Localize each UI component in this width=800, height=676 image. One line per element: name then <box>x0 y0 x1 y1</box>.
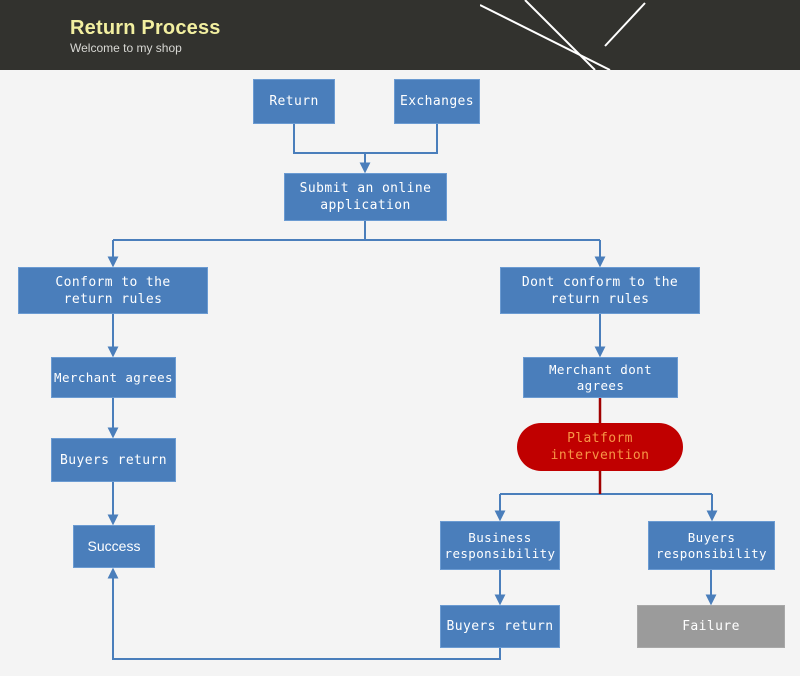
node-submit-online-application[interactable]: Submit an online application <box>284 173 447 221</box>
node-merchant-dont-agrees[interactable]: Merchant dont agrees <box>523 357 678 398</box>
node-business-responsibility[interactable]: Business responsibility <box>440 521 560 570</box>
node-success[interactable]: Success <box>73 525 155 568</box>
page-header: Return Process Welcome to my shop <box>0 0 800 70</box>
node-conform-to-return-rules[interactable]: Conform to the return rules <box>18 267 208 314</box>
node-buyers-return-left[interactable]: Buyers return <box>51 438 176 482</box>
edge-return-exchanges-merge <box>294 124 437 153</box>
node-merchant-agrees[interactable]: Merchant agrees <box>51 357 176 398</box>
flowchart-canvas: Return Exchanges Submit an online applic… <box>0 70 800 676</box>
node-exchanges[interactable]: Exchanges <box>394 79 480 124</box>
screenshot-root: Return Process Welcome to my shop <box>0 0 800 676</box>
node-buyers-return-bottom[interactable]: Buyers return <box>440 605 560 648</box>
node-return[interactable]: Return <box>253 79 335 124</box>
node-failure[interactable]: Failure <box>637 605 785 648</box>
page-subtitle: Welcome to my shop <box>70 41 182 55</box>
node-dont-conform-to-return-rules[interactable]: Dont conform to the return rules <box>500 267 700 314</box>
node-buyers-responsibility[interactable]: Buyers responsibility <box>648 521 775 570</box>
header-decoration-lines <box>480 0 800 70</box>
node-platform-intervention[interactable]: Platform intervention <box>517 423 683 471</box>
page-title: Return Process <box>70 17 221 40</box>
